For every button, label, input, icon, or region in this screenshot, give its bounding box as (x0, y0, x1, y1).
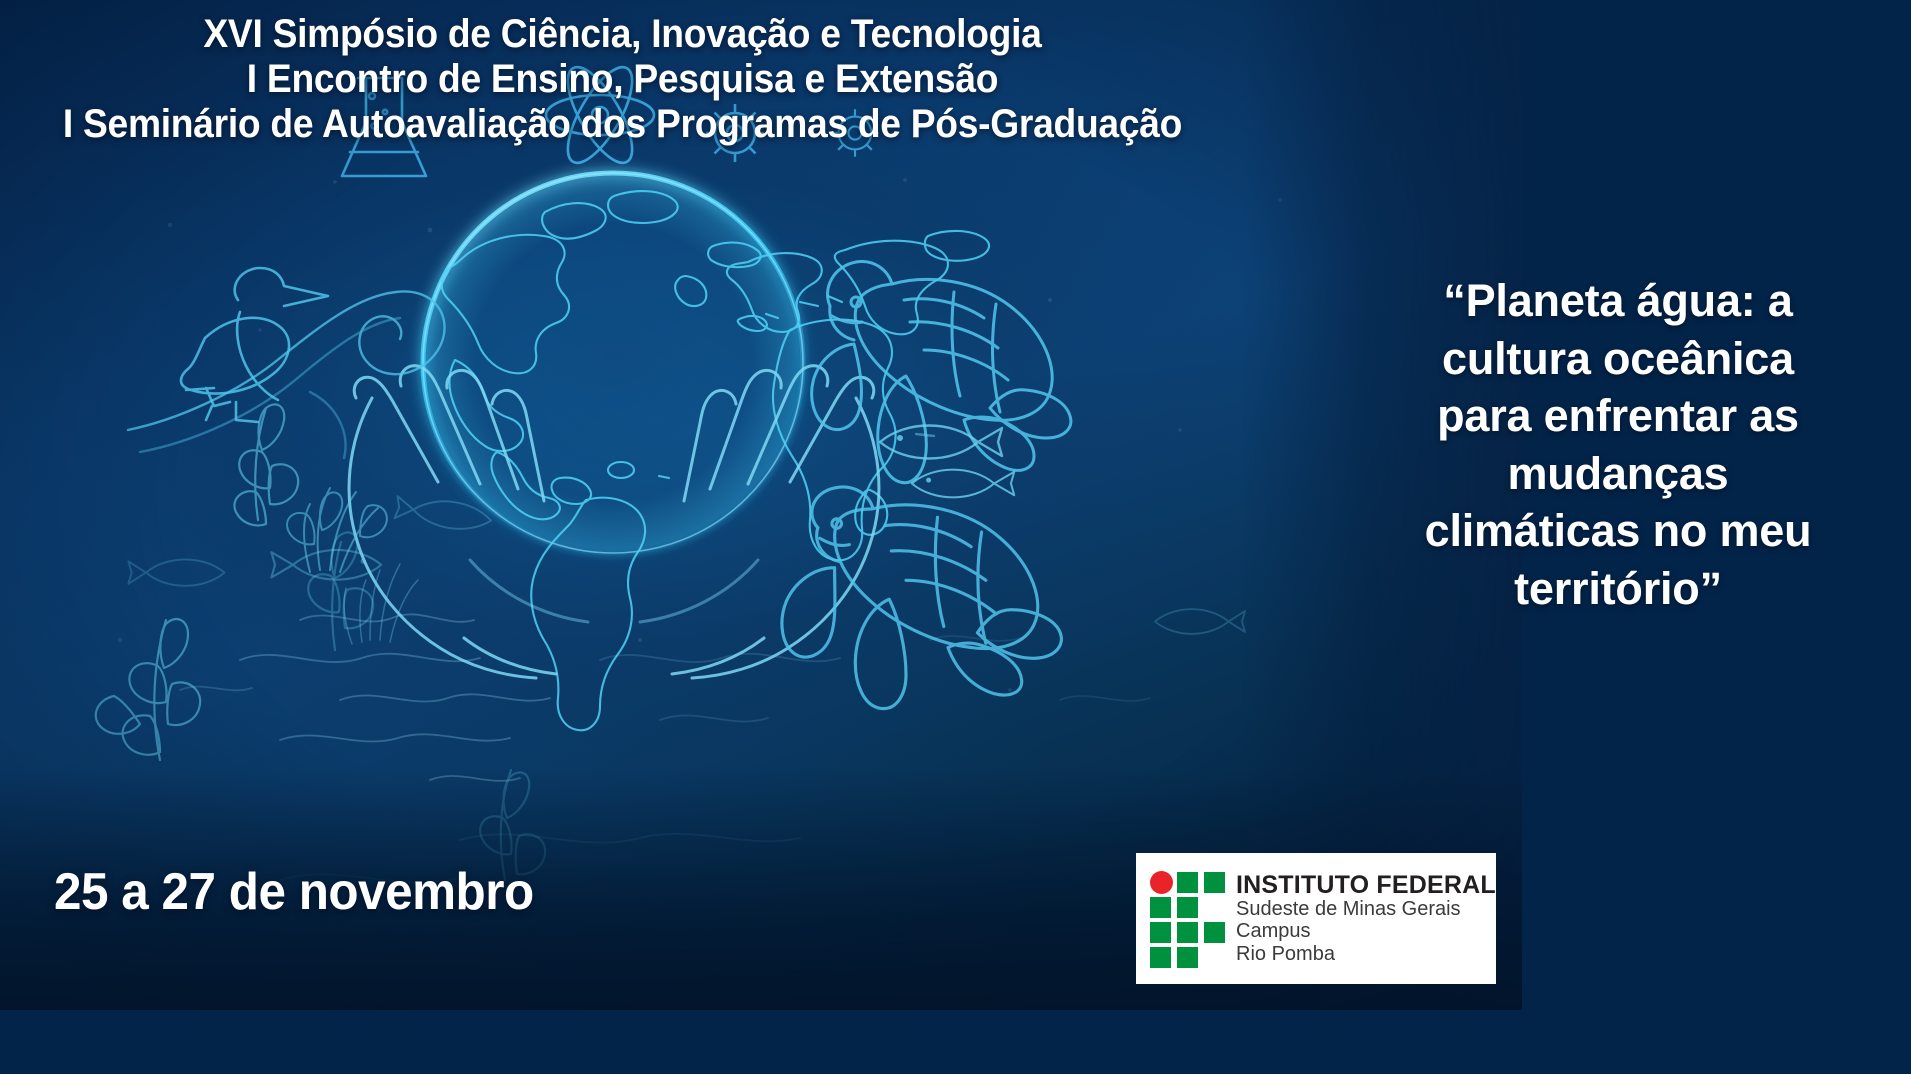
wave-icon (128, 291, 445, 458)
quote-line-5: climáticas no meu (1368, 502, 1868, 560)
logo-green-square (1177, 897, 1198, 918)
institution-logo: INSTITUTO FEDERAL Sudeste de Minas Gerai… (1136, 853, 1496, 984)
event-title: XVI Simpósio de Ciência, Inovação e Tecn… (44, 12, 1202, 146)
bird-icon (181, 268, 328, 422)
quote-line-2: cultura oceânica (1368, 330, 1868, 388)
coral-icon (344, 564, 418, 644)
logo-subtitle-campus: Campus (1236, 920, 1496, 942)
logo-green-square (1204, 922, 1225, 943)
logo-green-square (1150, 947, 1171, 968)
quote-line-1: “Planeta água: a (1368, 272, 1868, 330)
logo-green-square (1150, 922, 1171, 943)
sea-turtle-icon (812, 262, 1071, 483)
title-line-1: XVI Simpósio de Ciência, Inovação e Tecn… (44, 12, 1202, 57)
quote-line-4: mudanças (1368, 445, 1868, 503)
logo-subtitle-city: Rio Pomba (1236, 943, 1496, 965)
logo-red-circle (1150, 871, 1173, 894)
if-logo-mark-icon (1150, 871, 1226, 967)
quote-line-6: território” (1368, 560, 1868, 618)
logo-green-square (1150, 897, 1171, 918)
logo-title: INSTITUTO FEDERAL (1236, 872, 1496, 898)
sea-turtle-icon (782, 487, 1061, 709)
event-theme-quote: “Planeta água: a cultura oceânica para e… (1368, 272, 1868, 618)
quote-line-3: para enfrentar as (1368, 387, 1868, 445)
logo-green-square (1177, 922, 1198, 943)
event-date: 25 a 27 de novembro (54, 862, 534, 922)
title-line-3: I Seminário de Autoavaliação dos Program… (44, 102, 1202, 147)
logo-green-square (1204, 872, 1225, 893)
logo-subtitle-region: Sudeste de Minas Gerais (1236, 898, 1496, 920)
logo-green-square (1177, 947, 1198, 968)
logo-green-square (1177, 872, 1198, 893)
logo-text-block: INSTITUTO FEDERAL Sudeste de Minas Gerai… (1236, 872, 1496, 965)
poster-canvas: XVI Simpósio de Ciência, Inovação e Tecn… (0, 0, 1911, 1074)
title-line-2: I Encontro de Ensino, Pesquisa e Extensã… (44, 57, 1202, 102)
